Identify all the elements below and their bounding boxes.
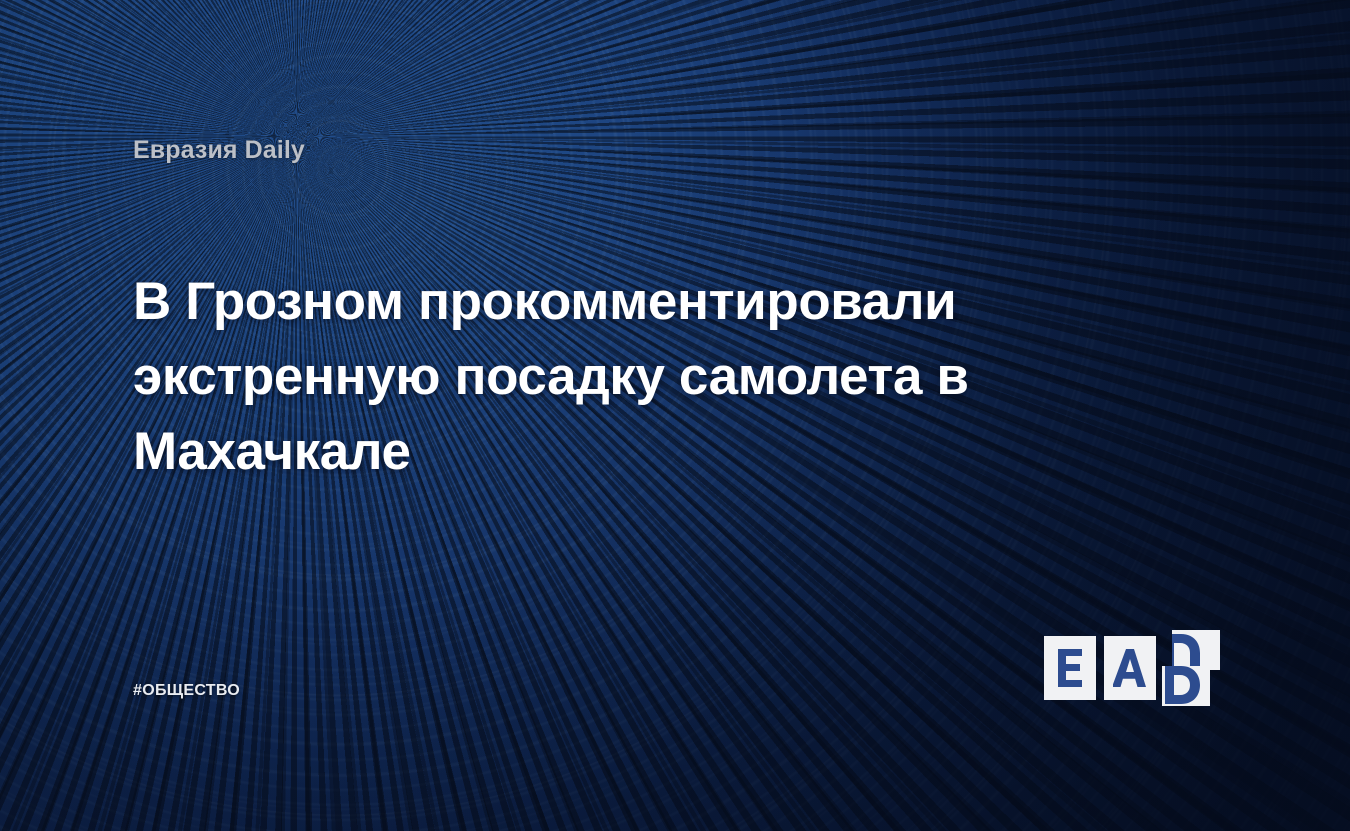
news-share-card: Евразия Daily В Грозном прокомментировал… (0, 0, 1350, 831)
brand-name: Евразия Daily (133, 136, 305, 165)
logo-tile-e (1044, 636, 1096, 700)
logo-tile-d-lower (1162, 666, 1210, 706)
logo-tile-d-upper (1172, 630, 1220, 670)
card-content: Евразия Daily В Грозном прокомментировал… (0, 0, 1350, 831)
ead-logo (1044, 630, 1220, 706)
page-title: В Грозном прокомментировали экстренную п… (133, 264, 1013, 489)
category-tag[interactable]: #ОБЩЕСТВО (133, 682, 240, 700)
logo-tile-a (1104, 636, 1156, 700)
